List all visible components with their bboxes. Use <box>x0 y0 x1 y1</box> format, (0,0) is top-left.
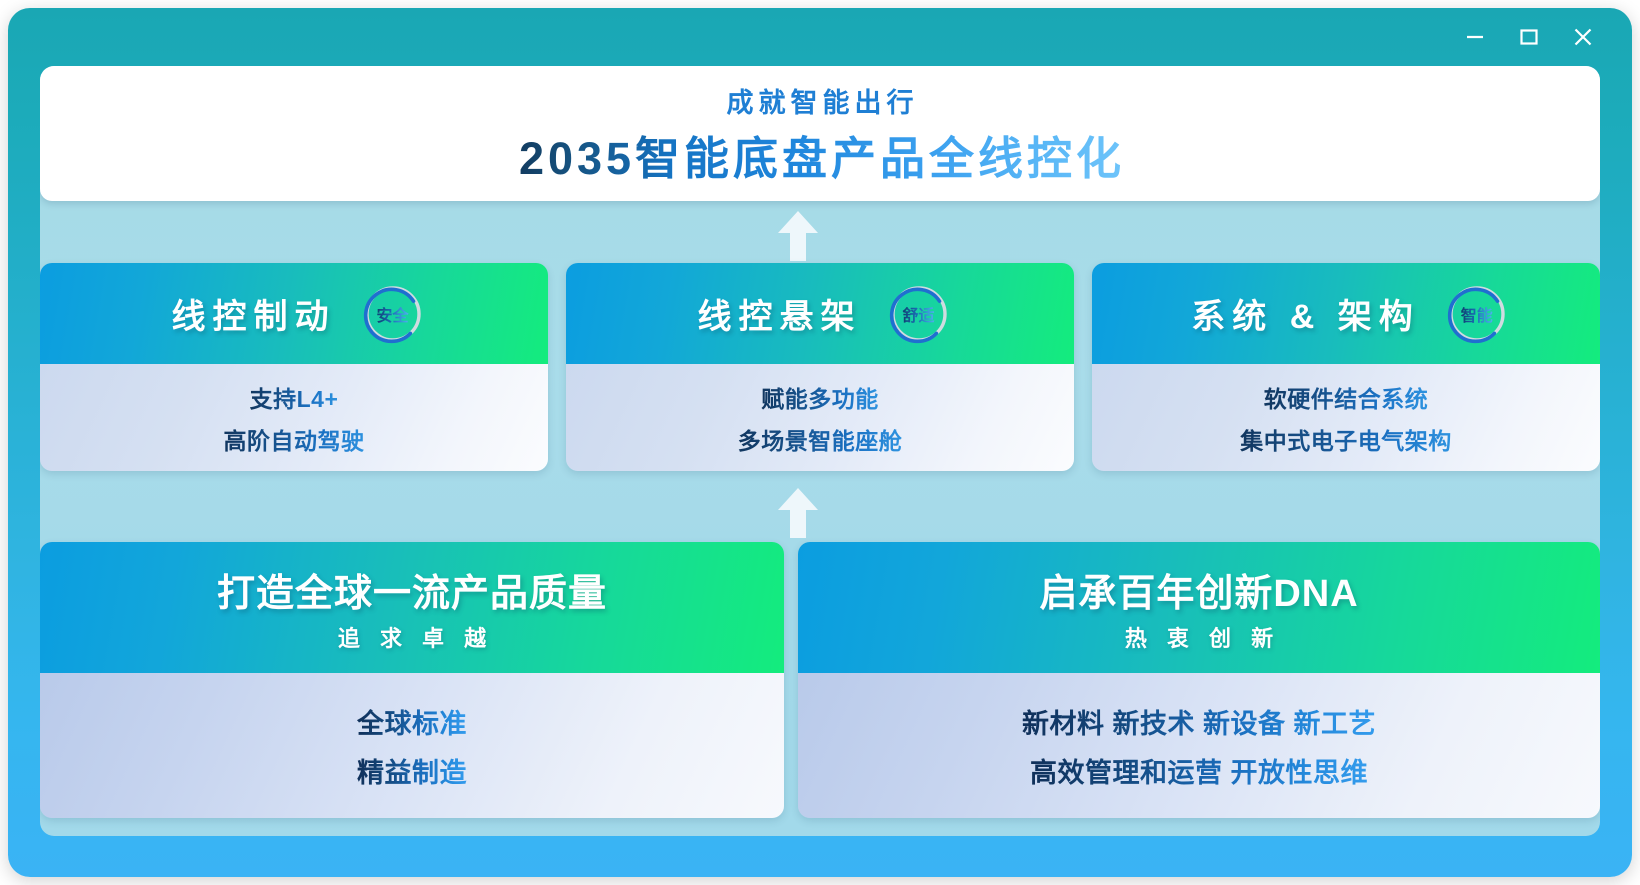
app-window: 成就智能出行 2035智能底盘产品全线控化 线控制动 安全 <box>8 8 1632 877</box>
maximize-button[interactable] <box>1502 16 1556 58</box>
card-badge: 安全 <box>362 283 424 345</box>
title-bar <box>8 8 1632 66</box>
card-badge: 舒适 <box>888 283 950 345</box>
panel-title: 启承百年创新DNA <box>1039 562 1358 617</box>
card-body-line: 多场景智能座舱 <box>738 422 903 456</box>
card-header: 线控制动 安全 <box>40 263 548 364</box>
panel-body-line: 高效管理和运营 开放性思维 <box>1030 751 1368 790</box>
card-title: 系统 & 架构 <box>1184 289 1419 338</box>
close-icon <box>1571 25 1595 49</box>
panel-header: 启承百年创新DNA 热 衷 创 新 <box>798 542 1600 673</box>
panel-motto: 热 衷 创 新 <box>1118 621 1280 653</box>
card-body: 赋能多功能 多场景智能座舱 <box>566 364 1074 471</box>
card-title: 线控悬架 <box>691 289 862 338</box>
card-badge: 智能 <box>1446 283 1508 345</box>
card-body-line: 赋能多功能 <box>761 380 879 414</box>
panel-motto: 追 求 卓 越 <box>331 621 493 653</box>
up-arrow-icon-2 <box>775 486 821 540</box>
headline-title: 2035智能底盘产品全线控化 <box>515 122 1125 187</box>
panel-body-line: 精益制造 <box>357 751 467 790</box>
headline-subtitle: 成就智能出行 <box>722 81 919 120</box>
card-body-line: 高阶自动驾驶 <box>224 422 365 456</box>
card-body: 支持L4+ 高阶自动驾驶 <box>40 364 548 471</box>
card-badge-label: 安全 <box>376 302 408 326</box>
close-button[interactable] <box>1556 16 1610 58</box>
panel-header: 打造全球一流产品质量 追 求 卓 越 <box>40 542 784 673</box>
card-body-line: 集中式电子电气架构 <box>1240 422 1452 456</box>
capability-card-row: 线控制动 安全 支持L4+ 高阶自动驾驶 线控悬架 <box>40 263 1600 471</box>
card-body-line: 软硬件结合系统 <box>1264 380 1429 414</box>
headline-card: 成就智能出行 2035智能底盘产品全线控化 <box>40 66 1600 201</box>
minimize-button[interactable] <box>1448 16 1502 58</box>
panel-body: 新材料 新技术 新设备 新工艺 高效管理和运营 开放性思维 <box>798 673 1600 818</box>
foundation-panel-row: 打造全球一流产品质量 追 求 卓 越 全球标准 精益制造 启承百年创新DNA 热… <box>40 542 1600 818</box>
card-header: 系统 & 架构 智能 <box>1092 263 1600 364</box>
up-arrow-icon-1 <box>775 209 821 263</box>
card-badge-label: 智能 <box>1461 302 1493 326</box>
card-body: 软硬件结合系统 集中式电子电气架构 <box>1092 364 1600 471</box>
panel-body-line: 新材料 新技术 新设备 新工艺 <box>1022 702 1376 741</box>
card-header: 线控悬架 舒适 <box>566 263 1074 364</box>
capability-card[interactable]: 线控制动 安全 支持L4+ 高阶自动驾驶 <box>40 263 548 471</box>
card-body-line: 支持L4+ <box>250 380 339 414</box>
panel-title: 打造全球一流产品质量 <box>217 562 607 617</box>
panel-body-line: 全球标准 <box>357 702 467 741</box>
foundation-panel[interactable]: 启承百年创新DNA 热 衷 创 新 新材料 新技术 新设备 新工艺 高效管理和运… <box>798 542 1600 818</box>
maximize-icon <box>1518 26 1540 48</box>
panel-body: 全球标准 精益制造 <box>40 673 784 818</box>
content-stage: 成就智能出行 2035智能底盘产品全线控化 线控制动 安全 <box>40 66 1600 836</box>
card-title: 线控制动 <box>165 289 336 338</box>
card-badge-label: 舒适 <box>902 302 934 326</box>
minimize-icon <box>1464 26 1486 48</box>
capability-card[interactable]: 系统 & 架构 智能 软硬件结合系统 集中式电子电气架构 <box>1092 263 1600 471</box>
capability-card[interactable]: 线控悬架 舒适 赋能多功能 多场景智能座舱 <box>566 263 1074 471</box>
foundation-panel[interactable]: 打造全球一流产品质量 追 求 卓 越 全球标准 精益制造 <box>40 542 784 818</box>
